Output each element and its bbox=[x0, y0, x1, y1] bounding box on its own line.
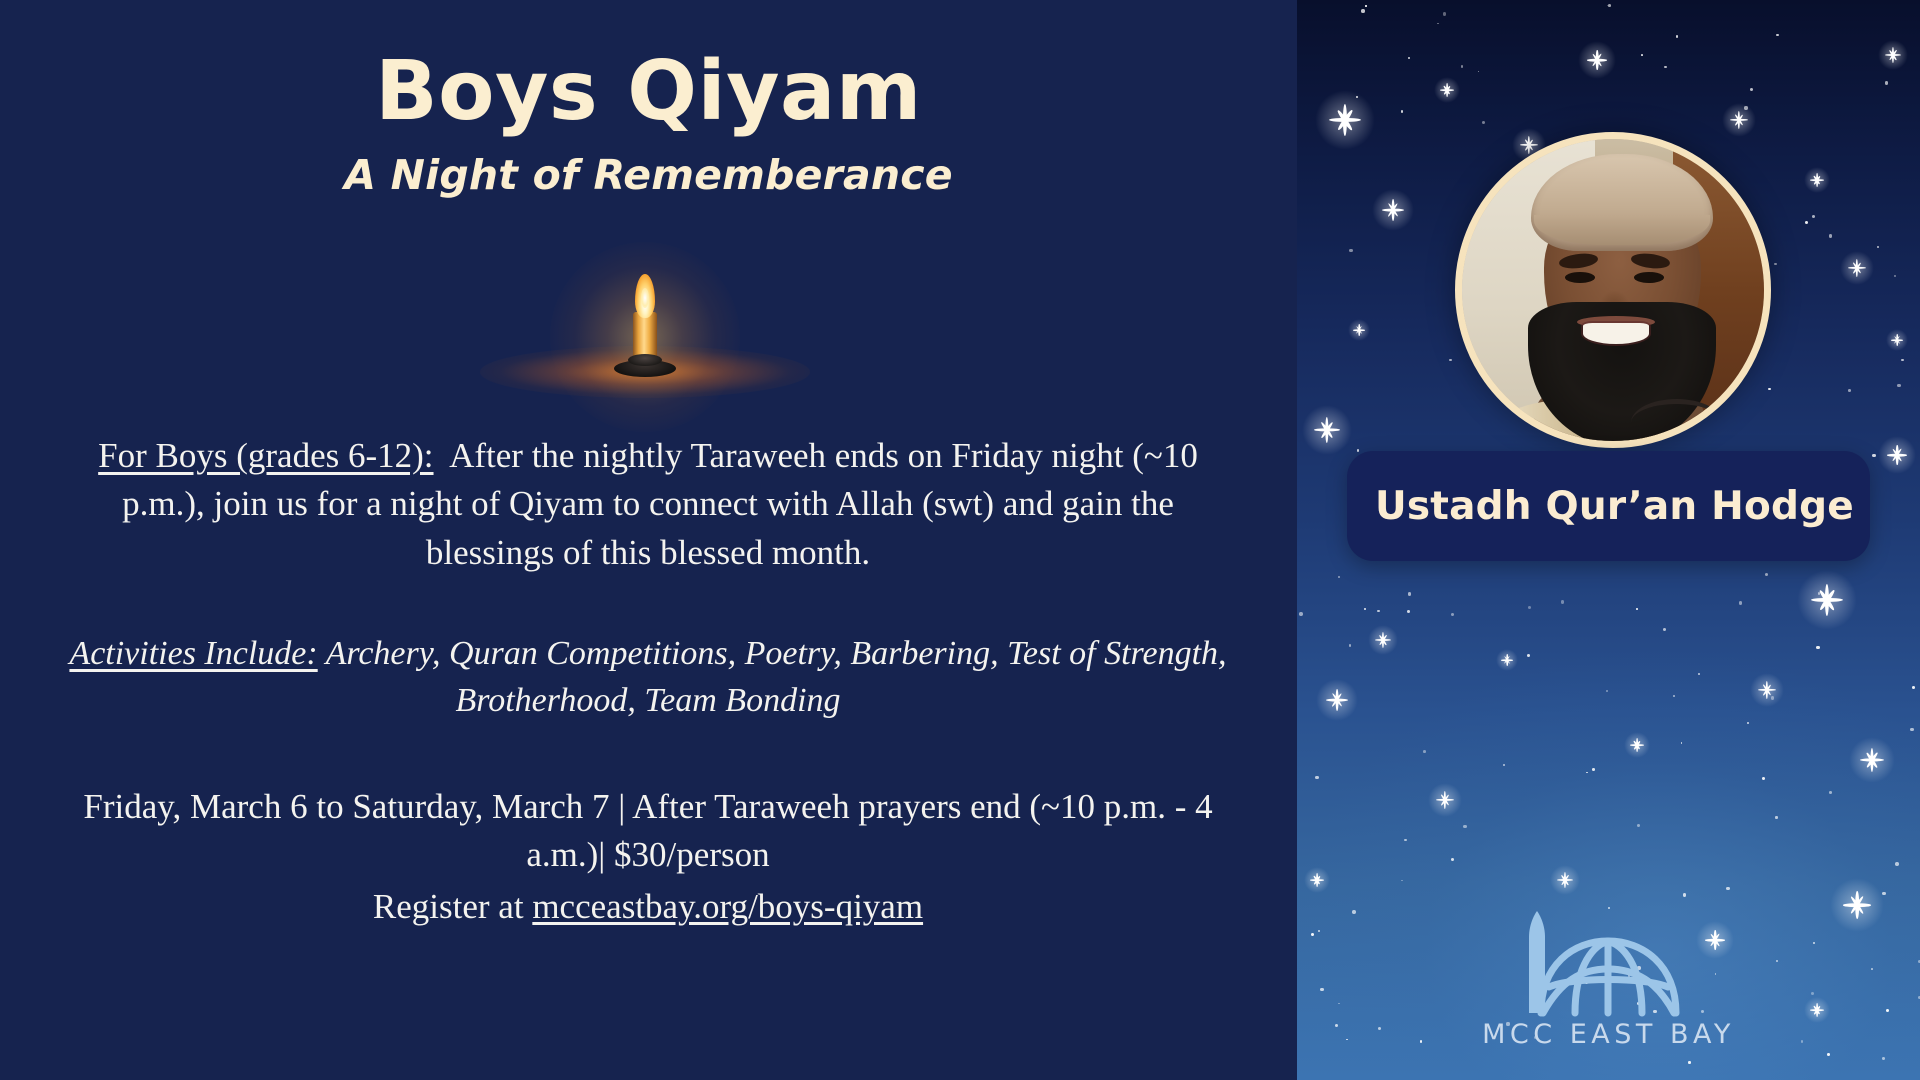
star-dot-icon bbox=[1606, 690, 1608, 692]
star-glow bbox=[1878, 40, 1908, 70]
star-dot-icon bbox=[1747, 722, 1749, 724]
star-dot-icon bbox=[1762, 777, 1765, 780]
star-dot-icon bbox=[1641, 54, 1643, 56]
star-dot-icon bbox=[1818, 592, 1821, 595]
star-glow bbox=[1372, 189, 1414, 231]
star-dot-icon bbox=[1401, 110, 1404, 113]
star-dot-icon bbox=[1636, 608, 1638, 610]
star-dot-icon bbox=[1663, 628, 1666, 631]
star-glow bbox=[1304, 867, 1331, 894]
star-dot-icon bbox=[1361, 9, 1365, 13]
star-dot-icon bbox=[1676, 35, 1679, 38]
star-dot-icon bbox=[1765, 573, 1768, 576]
star-icon bbox=[1587, 50, 1607, 70]
star-dot-icon bbox=[1461, 65, 1463, 67]
photo-eye-right bbox=[1634, 272, 1664, 283]
star-dot-icon bbox=[1404, 839, 1406, 841]
star-dot-icon bbox=[1482, 121, 1485, 124]
star-dot-icon bbox=[1829, 234, 1832, 237]
star-icon bbox=[1848, 259, 1866, 277]
star-dot-icon bbox=[1528, 606, 1531, 609]
star-dot-icon bbox=[1586, 772, 1588, 774]
star-glow bbox=[1722, 103, 1756, 137]
star-glow bbox=[1624, 732, 1651, 759]
star-icon bbox=[1310, 873, 1324, 887]
brand-logo-text: MCC EAST BAY bbox=[1297, 1019, 1920, 1050]
event-flyer: Boys Qiyam A Night of Rememberance For B… bbox=[0, 0, 1920, 1080]
star-dot-icon bbox=[1882, 1057, 1885, 1060]
star-dot-icon bbox=[1776, 34, 1779, 37]
star-dot-icon bbox=[1805, 221, 1808, 224]
star-icon bbox=[1811, 584, 1843, 616]
star-dot-icon bbox=[1365, 5, 1366, 6]
speaker-name-card: Ustadh Qur’an Hodge bbox=[1347, 451, 1870, 561]
star-dot-icon bbox=[1478, 71, 1480, 73]
star-glow bbox=[1750, 673, 1784, 707]
star-icon bbox=[1885, 47, 1901, 63]
star-icon bbox=[1501, 654, 1513, 666]
star-dot-icon bbox=[1829, 791, 1832, 794]
star-dot-icon bbox=[1877, 246, 1879, 248]
candle-flame-core bbox=[641, 288, 649, 308]
star-dot-icon bbox=[1910, 728, 1913, 731]
speaker-avatar bbox=[1455, 132, 1771, 448]
star-glow bbox=[1368, 625, 1398, 655]
star-dot-icon bbox=[1561, 600, 1565, 604]
candle-holder-top bbox=[628, 354, 662, 366]
star-dot-icon bbox=[1299, 612, 1303, 616]
activities-list: Archery, Quran Competitions, Poetry, Bar… bbox=[326, 635, 1227, 719]
star-dot-icon bbox=[1503, 764, 1505, 766]
star-dot-icon bbox=[1768, 388, 1770, 390]
star-dot-icon bbox=[1901, 359, 1903, 361]
register-paragraph: Register at mcceastbay.org/boys-qiyam bbox=[58, 883, 1238, 931]
star-dot-icon bbox=[1357, 449, 1360, 452]
star-dot-icon bbox=[1688, 1061, 1690, 1063]
star-dot-icon bbox=[1894, 275, 1895, 276]
page-title: Boys Qiyam bbox=[0, 48, 1297, 137]
star-icon bbox=[1353, 324, 1365, 336]
audience-label: For Boys (grades 6-12): bbox=[98, 436, 433, 475]
star-dot-icon bbox=[1592, 768, 1595, 771]
audience-paragraph: For Boys (grades 6-12): After the nightl… bbox=[58, 432, 1238, 577]
star-glow bbox=[1348, 319, 1371, 342]
star-dot-icon bbox=[1637, 824, 1641, 828]
star-dot-icon bbox=[1698, 673, 1700, 675]
star-dot-icon bbox=[1771, 696, 1774, 699]
star-dot-icon bbox=[1423, 750, 1426, 753]
star-dot-icon bbox=[1401, 880, 1402, 881]
star-dot-icon bbox=[1443, 12, 1447, 16]
register-prefix: Register at bbox=[373, 887, 532, 926]
star-dot-icon bbox=[1607, 5, 1608, 6]
star-dot-icon bbox=[1608, 4, 1611, 7]
page-subtitle: A Night of Rememberance bbox=[0, 151, 1297, 199]
star-dot-icon bbox=[1750, 88, 1753, 91]
star-dot-icon bbox=[1744, 106, 1747, 109]
star-icon bbox=[1329, 104, 1361, 136]
flyer-body-text: For Boys (grades 6-12): After the nightl… bbox=[58, 432, 1238, 932]
star-dot-icon bbox=[1872, 454, 1875, 457]
star-icon bbox=[1436, 791, 1454, 809]
star-dot-icon bbox=[1449, 359, 1452, 362]
star-dot-icon bbox=[1315, 776, 1319, 780]
star-dot-icon bbox=[1364, 608, 1366, 610]
activities-label: Activities Include: bbox=[69, 635, 317, 672]
star-icon bbox=[1887, 445, 1907, 465]
star-icon bbox=[1557, 872, 1573, 888]
star-dot-icon bbox=[1338, 576, 1340, 578]
star-dot-icon bbox=[1664, 66, 1667, 69]
star-glow bbox=[1315, 90, 1376, 151]
title-block: Boys Qiyam A Night of Rememberance bbox=[0, 48, 1297, 199]
star-dot-icon bbox=[1377, 610, 1380, 613]
star-icon bbox=[1860, 748, 1884, 772]
star-dot-icon bbox=[1437, 23, 1439, 25]
star-dot-icon bbox=[1451, 613, 1454, 616]
star-dot-icon bbox=[1774, 263, 1776, 265]
brand-logo: MCC EAST BAY bbox=[1297, 907, 1920, 1050]
star-dot-icon bbox=[1812, 215, 1815, 218]
star-glow bbox=[1886, 329, 1909, 352]
star-dot-icon bbox=[1827, 1053, 1830, 1056]
photo-necklace bbox=[1631, 399, 1722, 446]
candle-icon bbox=[475, 268, 815, 398]
star-glow bbox=[1550, 865, 1580, 895]
star-dot-icon bbox=[1775, 816, 1777, 818]
star-glow bbox=[1434, 77, 1461, 104]
star-glow bbox=[1428, 783, 1462, 817]
star-dot-icon bbox=[1408, 57, 1410, 59]
star-dot-icon bbox=[1816, 646, 1819, 649]
star-glow bbox=[1797, 570, 1858, 631]
star-dot-icon bbox=[1408, 592, 1411, 595]
star-icon bbox=[1326, 689, 1348, 711]
star-dot-icon bbox=[1349, 644, 1352, 647]
star-dot-icon bbox=[1407, 610, 1410, 613]
flyer-left-panel: Boys Qiyam A Night of Rememberance For B… bbox=[0, 0, 1297, 1080]
star-glow bbox=[1578, 41, 1616, 79]
speaker-name: Ustadh Qur’an Hodge bbox=[1375, 484, 1854, 529]
star-icon bbox=[1382, 199, 1404, 221]
star-dot-icon bbox=[1451, 858, 1454, 861]
photo-eye-left bbox=[1565, 272, 1595, 283]
star-icon bbox=[1810, 173, 1824, 187]
star-glow bbox=[1804, 167, 1831, 194]
star-dot-icon bbox=[1527, 654, 1530, 657]
star-dot-icon bbox=[1349, 249, 1353, 253]
candle-illustration bbox=[0, 268, 1297, 398]
star-dot-icon bbox=[1739, 601, 1742, 604]
star-dot-icon bbox=[1895, 862, 1899, 866]
star-dot-icon bbox=[1726, 887, 1729, 890]
schedule-paragraph: Friday, March 6 to Saturday, March 7 | A… bbox=[58, 783, 1238, 880]
star-glow bbox=[1840, 251, 1874, 285]
mosque-globe-icon bbox=[1501, 907, 1716, 1017]
star-icon bbox=[1758, 681, 1776, 699]
star-dot-icon bbox=[1673, 695, 1675, 697]
star-dot-icon bbox=[1897, 384, 1900, 387]
star-icon bbox=[1730, 111, 1748, 129]
star-glow bbox=[1496, 649, 1519, 672]
star-dot-icon bbox=[1885, 81, 1889, 85]
star-dot-icon bbox=[1356, 96, 1358, 98]
flyer-right-panel: Ustadh Qur’an Hodge MCC EAST BAY bbox=[1297, 0, 1920, 1080]
register-link[interactable]: mcceastbay.org/boys-qiyam bbox=[532, 887, 923, 926]
star-dot-icon bbox=[1882, 892, 1885, 895]
star-glow bbox=[1878, 436, 1916, 474]
star-icon bbox=[1630, 738, 1644, 752]
star-dot-icon bbox=[1463, 825, 1466, 828]
star-glow bbox=[1849, 737, 1895, 783]
star-icon bbox=[1891, 334, 1903, 346]
star-dot-icon bbox=[1681, 742, 1682, 743]
star-glow bbox=[1302, 405, 1351, 454]
star-glow bbox=[1316, 679, 1358, 721]
star-dot-icon bbox=[1848, 389, 1851, 392]
star-icon bbox=[1440, 83, 1454, 97]
star-icon bbox=[1375, 632, 1391, 648]
activities-paragraph: Activities Include: Archery, Quran Compe… bbox=[58, 631, 1238, 725]
star-icon bbox=[1314, 417, 1340, 443]
star-dot-icon bbox=[1683, 893, 1687, 897]
star-dot-icon bbox=[1912, 686, 1915, 689]
